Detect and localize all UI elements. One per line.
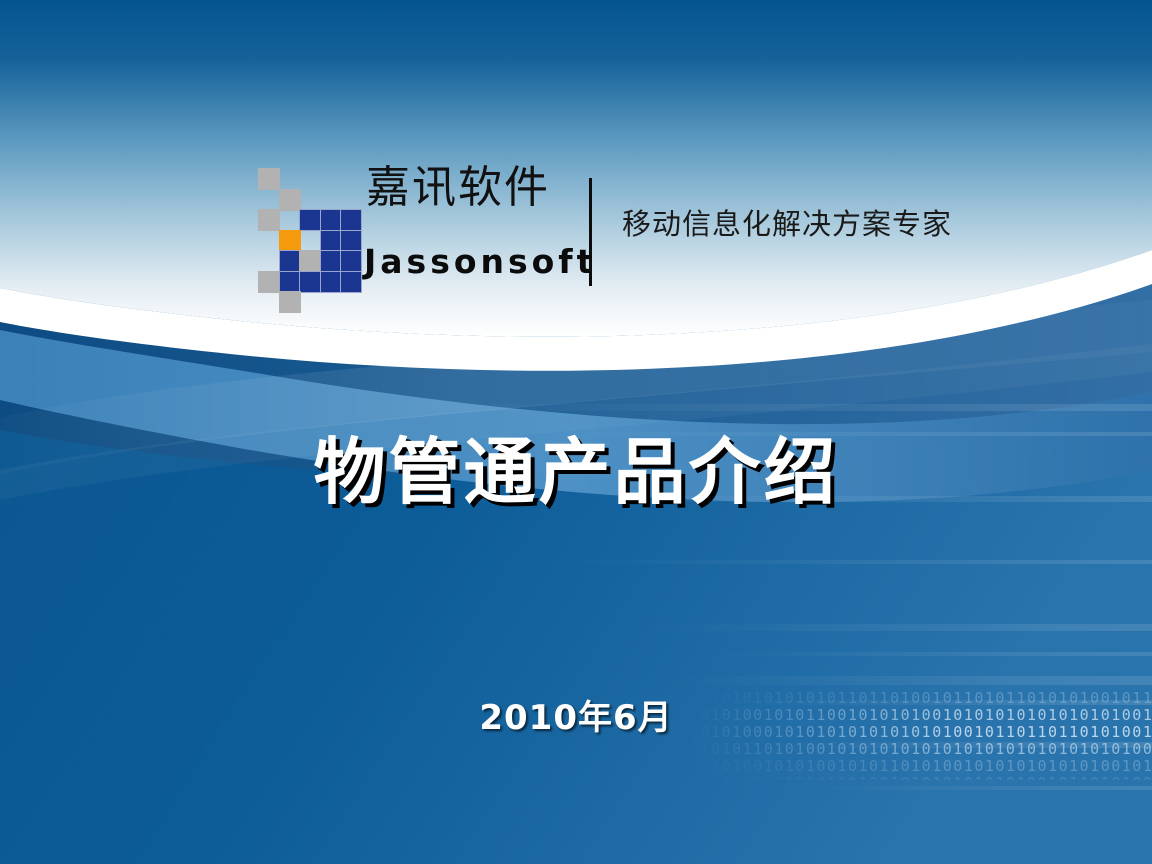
logo-grid-square-gray <box>299 250 321 272</box>
logo-grid-square-gray <box>279 291 301 313</box>
logo-grid-square-blue <box>340 250 362 272</box>
logo-grid-square-blue <box>340 209 362 231</box>
logo-grid-square-blue <box>299 209 321 231</box>
company-logo-lockup: 嘉讯软件 Jassonsoft 移动信息化解决方案专家 <box>258 168 978 293</box>
presentation-slide: 1010101010101011011010010110101101010100… <box>0 0 1152 864</box>
logo-grid-square-blue <box>320 230 342 252</box>
logo-grid-square-blue <box>320 250 342 272</box>
logo-grid-square-gray <box>258 168 280 190</box>
company-name-en: Jassonsoft <box>364 244 596 280</box>
logo-grid-square-blue <box>320 209 342 231</box>
company-tagline: 移动信息化解决方案专家 <box>622 204 952 244</box>
logo-grid-square-blue <box>340 271 362 293</box>
logo-grid-square-orange <box>279 230 301 252</box>
logo-grid-square-gray <box>279 189 301 211</box>
logo-divider <box>589 178 592 286</box>
slide-title: 物管通产品介绍 <box>0 428 1152 516</box>
company-name-cn: 嘉讯软件 <box>366 162 550 214</box>
logo-grid-square-gray <box>258 271 280 293</box>
logo-grid-square-gray <box>258 209 280 231</box>
logo-grid-square-blue <box>320 271 342 293</box>
logo-grid-square-blue <box>299 271 321 293</box>
logo-pixel-grid-icon <box>258 168 376 290</box>
logo-grid-square-blue <box>279 271 301 293</box>
logo-grid-square-blue <box>340 230 362 252</box>
slide-date: 2010年6月 <box>0 696 1152 740</box>
logo-grid-square-blue <box>279 250 301 272</box>
